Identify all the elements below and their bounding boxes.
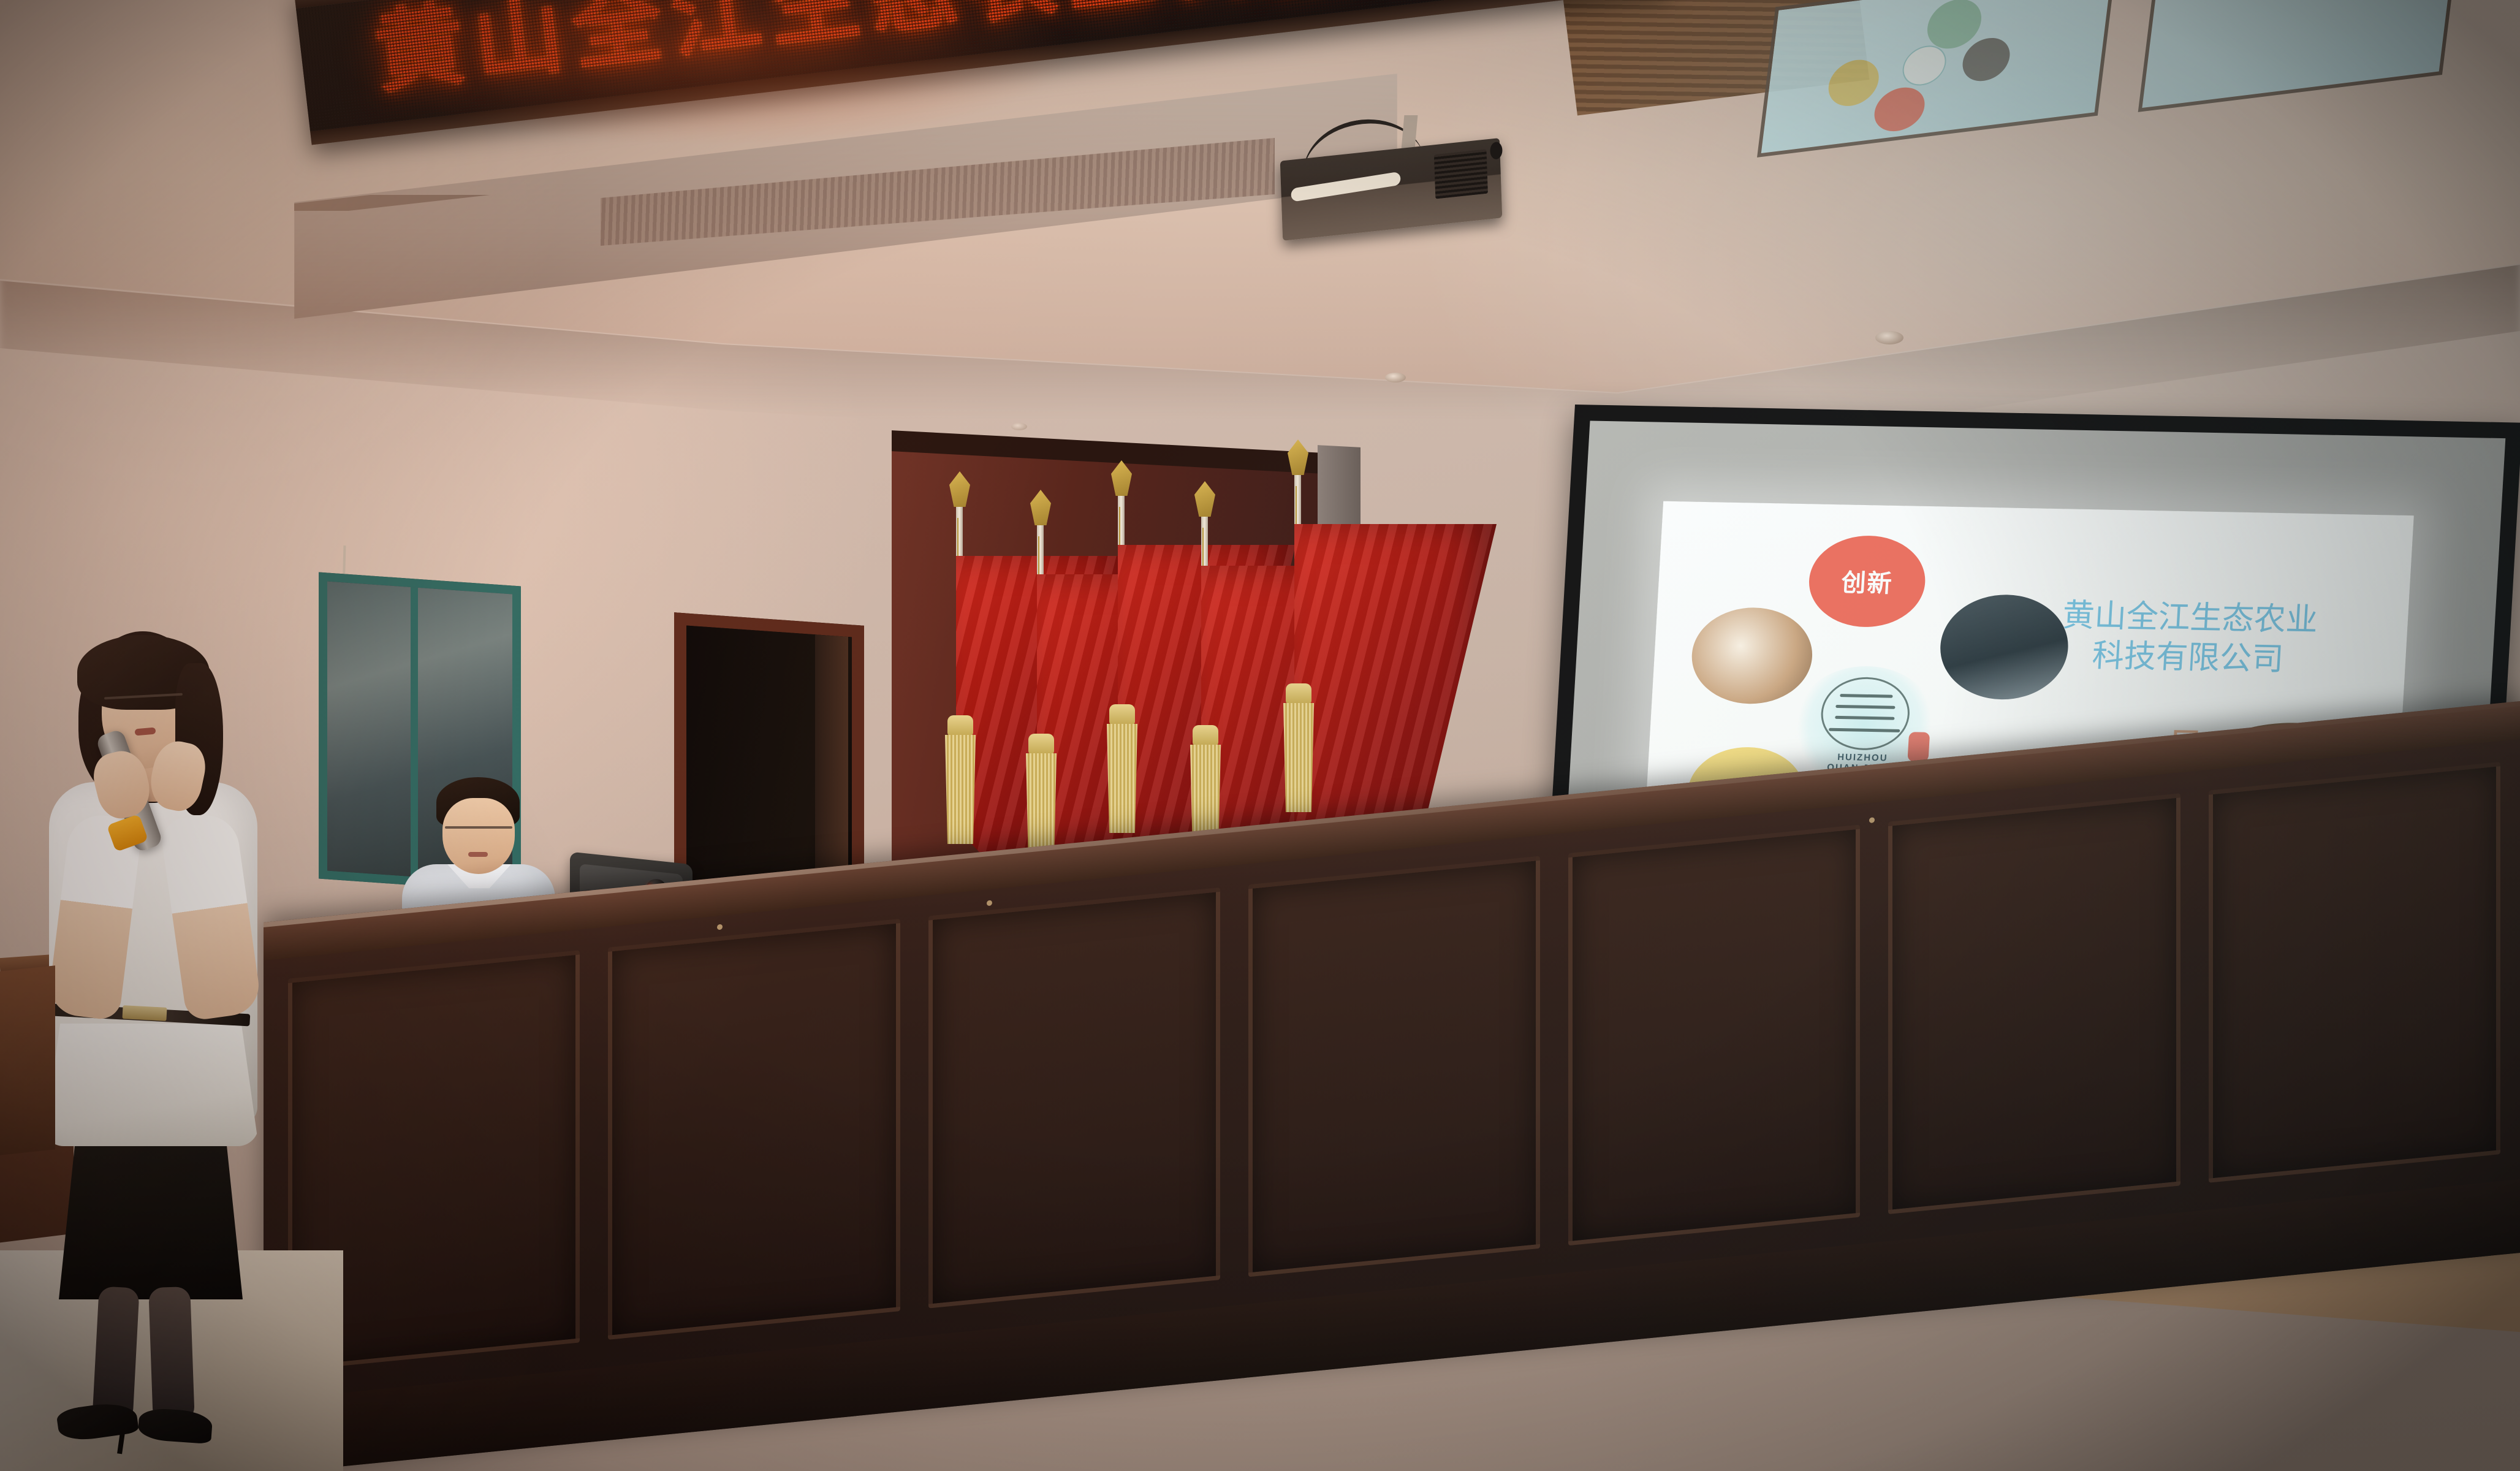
dais-panel — [1568, 825, 1860, 1246]
tassel-knob — [947, 715, 973, 736]
value-circle-innovation-label: 创新 — [1807, 534, 1928, 628]
projector-vent — [1434, 149, 1488, 199]
tassel-skirt — [1283, 703, 1314, 812]
flag-finial — [1194, 481, 1215, 517]
slide-company-name: 黄山全江生态农业 科技有限公司 — [1992, 595, 2386, 682]
flag-tassel — [1281, 683, 1316, 812]
logo-stroke — [1836, 705, 1896, 709]
presenter-skirt — [59, 1122, 243, 1299]
dais-panel — [928, 888, 1220, 1309]
presenter-leg-left — [92, 1286, 139, 1423]
logo-seal-stamp — [1907, 732, 1930, 762]
dais-screw — [717, 924, 723, 930]
dais-panel — [608, 919, 900, 1340]
dais-panel — [2209, 762, 2500, 1183]
tassel-knob — [1286, 683, 1311, 704]
dais-panel — [1248, 856, 1540, 1277]
female-presenter — [43, 631, 300, 1446]
presenter-shoe-right — [137, 1407, 213, 1444]
dais-screw — [987, 900, 992, 906]
slide-company-name-line2: 科技有限公司 — [1992, 634, 2385, 682]
dais-panel — [1888, 793, 2180, 1214]
smoke-detector — [1875, 331, 1903, 344]
tassel-skirt — [1107, 724, 1137, 833]
seated-man-face — [442, 798, 515, 874]
logo-ring — [1819, 676, 1911, 751]
logo-stroke — [1835, 716, 1895, 720]
ceiling-fixture-small — [1011, 423, 1027, 430]
dais-screw — [1869, 817, 1875, 823]
seated-man-mouth — [468, 852, 488, 857]
flag-finial — [1111, 460, 1132, 496]
tassel-knob — [1109, 704, 1135, 725]
lectern-edge — [0, 965, 55, 1155]
logo-stroke — [1840, 694, 1892, 698]
logo-latin-line1: HUIZHOU — [1827, 752, 1898, 764]
slide-company-name-line1: 黄山全江生态农业 — [1994, 595, 2386, 642]
presenter-belt-buckle — [122, 1005, 167, 1021]
handshake-photo — [1689, 606, 1815, 704]
conference-hall-photo: 黄山全江生态农业科技有限公司 — [0, 0, 2520, 1471]
flag-finial — [1030, 490, 1051, 525]
flag-tassel — [1023, 734, 1059, 862]
flag-tassel — [943, 715, 978, 844]
tassel-skirt — [945, 735, 976, 844]
tassel-knob — [1028, 734, 1054, 755]
logo-stroke — [1829, 728, 1900, 732]
ceiling-fixture — [1385, 373, 1406, 382]
value-circle-innovation: 创新 — [1807, 534, 1928, 628]
seated-man-glasses — [445, 826, 512, 829]
presenter-blouse-peplum — [43, 1024, 259, 1146]
projector-lens — [1291, 172, 1401, 202]
flag-tassel — [1104, 704, 1140, 833]
tassel-knob — [1193, 725, 1218, 746]
presenter-leg-right — [148, 1287, 195, 1423]
